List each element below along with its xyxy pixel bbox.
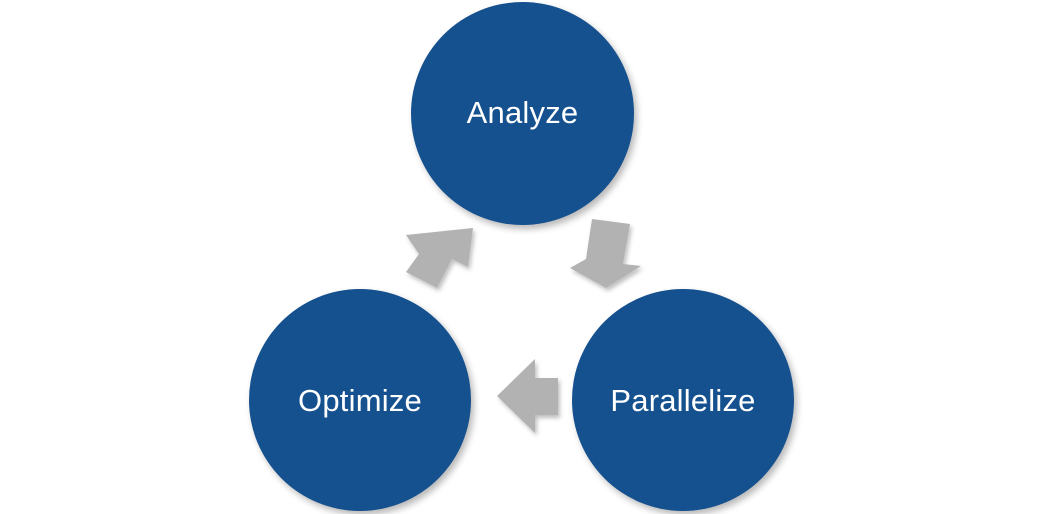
node-analyze-label: Analyze	[467, 97, 579, 128]
node-analyze[interactable]: Analyze	[411, 2, 634, 225]
node-parallelize-label: Parallelize	[610, 385, 755, 416]
arrow-optimize-to-analyze	[406, 228, 473, 288]
node-optimize[interactable]: Optimize	[249, 289, 471, 511]
node-parallelize[interactable]: Parallelize	[572, 289, 794, 511]
arrow-analyze-to-parallelize	[570, 219, 641, 288]
node-optimize-label: Optimize	[298, 385, 422, 416]
diagram-canvas: Analyze Parallelize Optimize	[0, 0, 1044, 514]
arrow-parallelize-to-optimize	[497, 359, 558, 433]
